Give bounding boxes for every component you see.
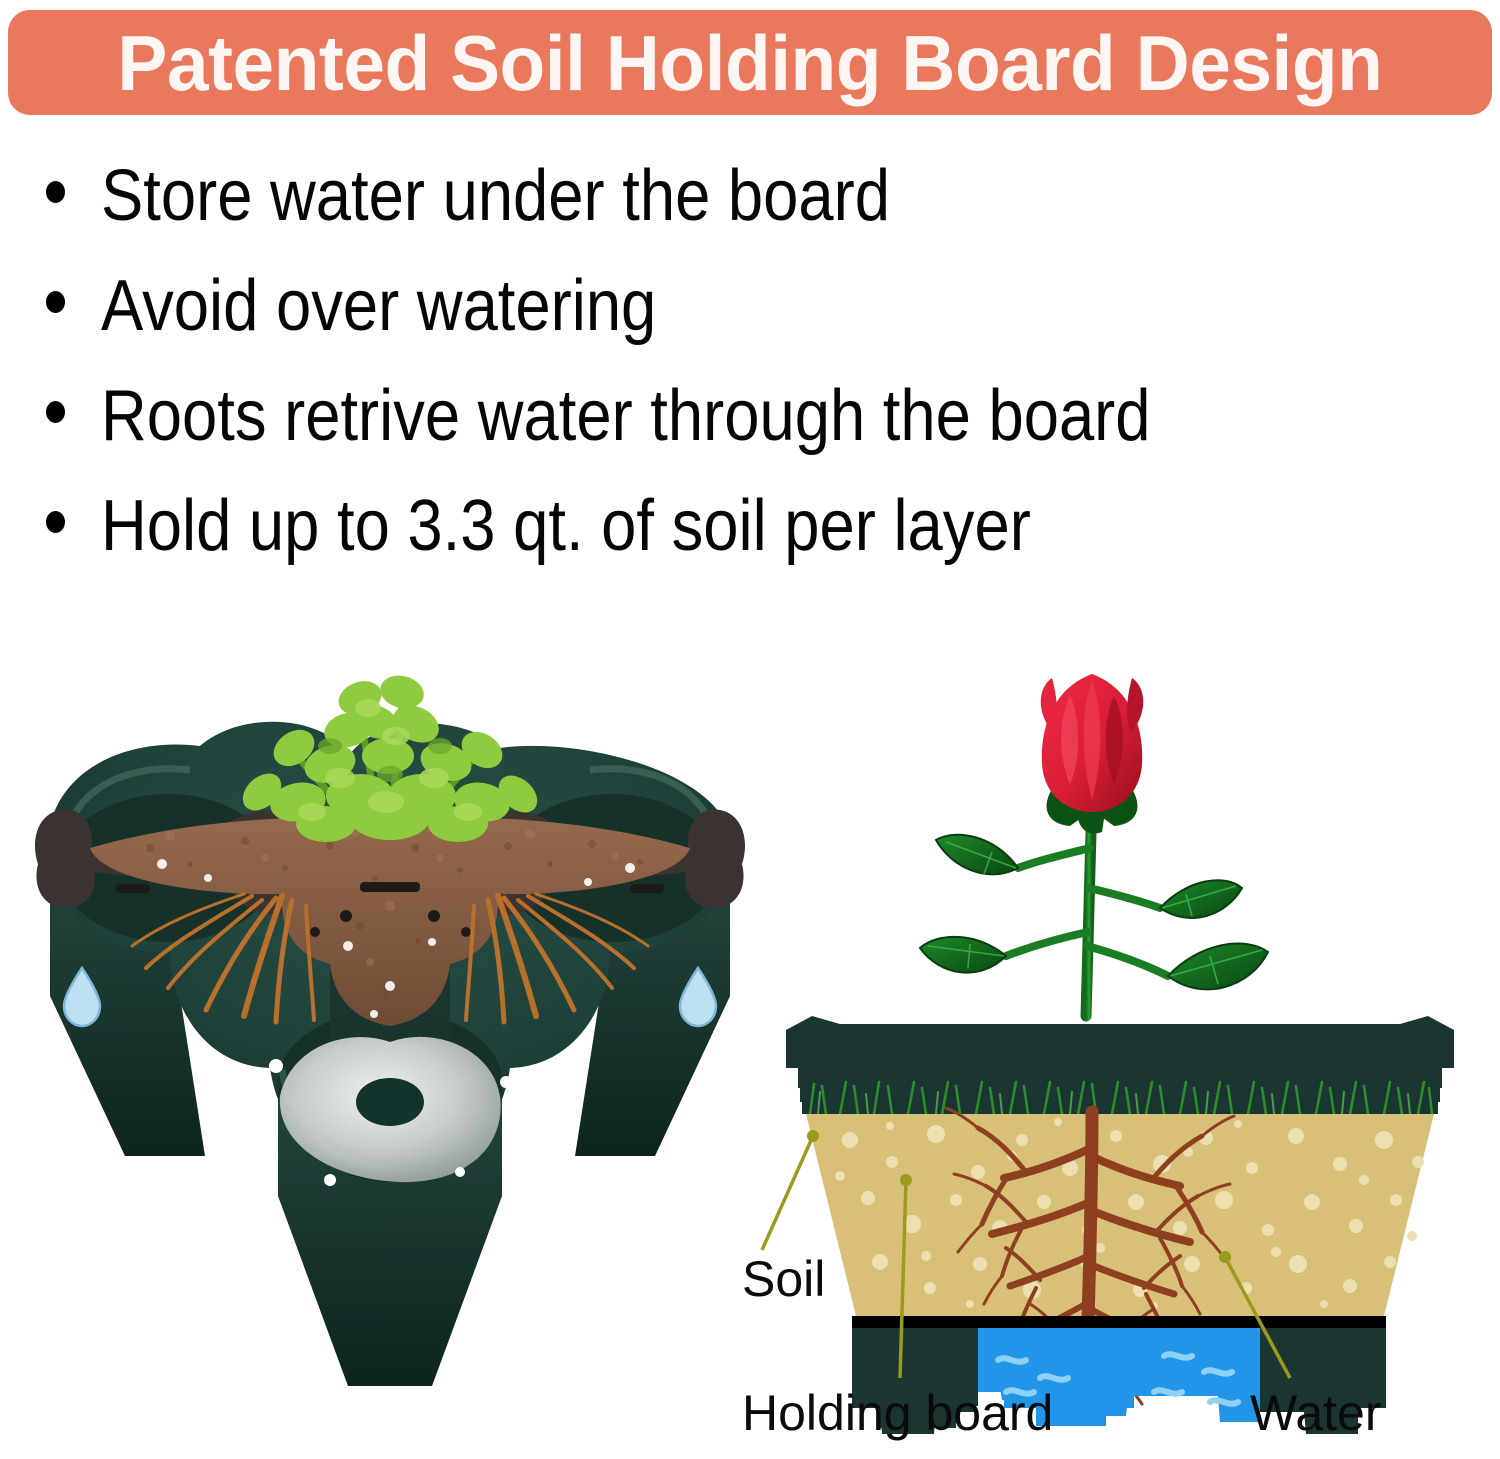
bullet-icon [46,401,65,423]
holding-board-layer [852,1316,1386,1328]
list-item: Store water under the board [46,148,1466,258]
callout-label-water: Water [1250,1388,1382,1438]
feature-text: Store water under the board [101,148,890,244]
soil-layer [806,1114,1434,1316]
illustration-area [0,596,1500,1459]
feature-text: Roots retrive water through the board [101,368,1151,464]
header-banner: Patented Soil Holding Board Design [8,10,1492,115]
list-item: Hold up to 3.3 qt. of soil per layer [46,478,1466,588]
callout-label-soil: Soil [742,1254,825,1304]
list-item: Avoid over watering [46,258,1466,368]
callout-label-holding-board: Holding board [742,1388,1053,1438]
list-item: Roots retrive water through the board [46,368,1466,478]
bullet-icon [46,511,65,533]
feature-list: Store water under the board Avoid over w… [46,148,1466,588]
bullet-icon [46,291,65,313]
plant-foliage [236,671,545,842]
bullet-icon [46,181,65,203]
rose-plant [920,674,1268,1016]
feature-text: Avoid over watering [101,258,656,354]
page-title: Patented Soil Holding Board Design [117,24,1382,102]
stackable-planter-photo [30,596,750,1406]
feature-text: Hold up to 3.3 qt. of soil per layer [101,478,1031,574]
rose-bloom [1041,674,1143,812]
grass-layer [802,1078,1438,1114]
pot-cross-section-diagram [740,616,1500,1459]
